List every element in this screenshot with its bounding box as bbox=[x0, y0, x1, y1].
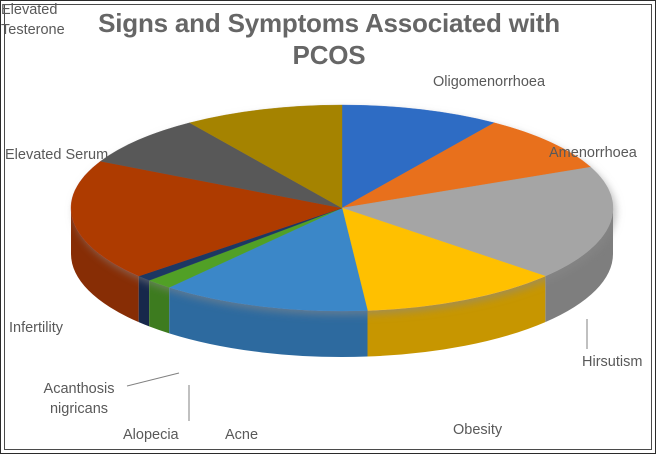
pie-label-elevated-testerone: Elevated Testerone bbox=[1, 1, 65, 40]
pie-label-obesity: Obesity bbox=[453, 421, 502, 441]
pie-label-amenorrhoea: Amenorrhoea bbox=[549, 144, 637, 164]
pie-label-infertility: Infertility bbox=[9, 319, 63, 339]
pie-top-faces bbox=[71, 105, 613, 311]
pie-label-acanthosis-nigricans: Acanthosis nigricans bbox=[32, 380, 126, 419]
chart-screenshot: Signs and Symptoms Associated with PCOS … bbox=[0, 0, 656, 454]
pie-slices-group bbox=[71, 105, 613, 357]
pie-label-hirsutism: Hirsutism bbox=[582, 353, 642, 373]
pie-label-alopecia: Alopecia bbox=[123, 426, 179, 446]
pie-slice-side-alopecia bbox=[149, 280, 169, 333]
pie-label-acne: Acne bbox=[225, 426, 258, 446]
pie-label-oligomenorrhoea: Oligomenorrhoea bbox=[433, 73, 545, 93]
pie-label-elevated-serum: Elevated Serum bbox=[5, 146, 108, 166]
pie-slice-side-acanthosis-nigricans bbox=[139, 276, 149, 326]
leader-line-acanthosis bbox=[127, 373, 179, 386]
